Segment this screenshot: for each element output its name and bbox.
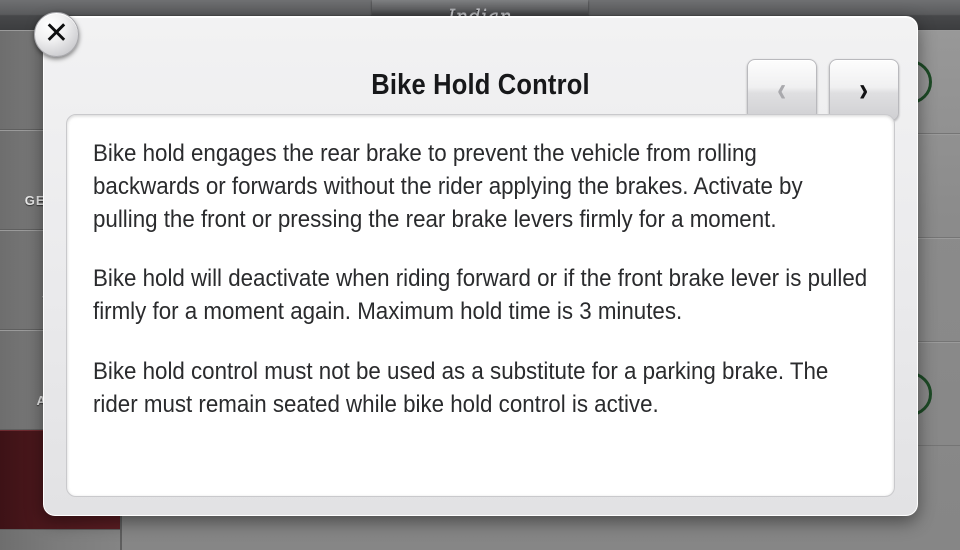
- bike-hold-control-dialog: Bike Hold Control ‹ › Bike hold engages …: [43, 16, 918, 516]
- previous-button[interactable]: ‹: [747, 59, 817, 121]
- body-paragraph: Bike hold engages the rear brake to prev…: [93, 137, 868, 236]
- chevron-right-icon: ›: [859, 73, 868, 107]
- screen-root: Indian ⏱ ⚙ GENERAL ⏱ TIME ● AUDIO ☼ BIKE: [0, 0, 960, 550]
- body-paragraph: Bike hold control must not be used as a …: [93, 355, 868, 421]
- next-button[interactable]: ›: [829, 59, 899, 121]
- close-icon: ✕: [44, 19, 69, 49]
- body-paragraph: Bike hold will deactivate when riding fo…: [93, 262, 868, 328]
- chevron-left-icon: ‹: [777, 73, 786, 107]
- dialog-content-panel: Bike hold engages the rear brake to prev…: [66, 114, 895, 497]
- close-button[interactable]: ✕: [34, 12, 79, 57]
